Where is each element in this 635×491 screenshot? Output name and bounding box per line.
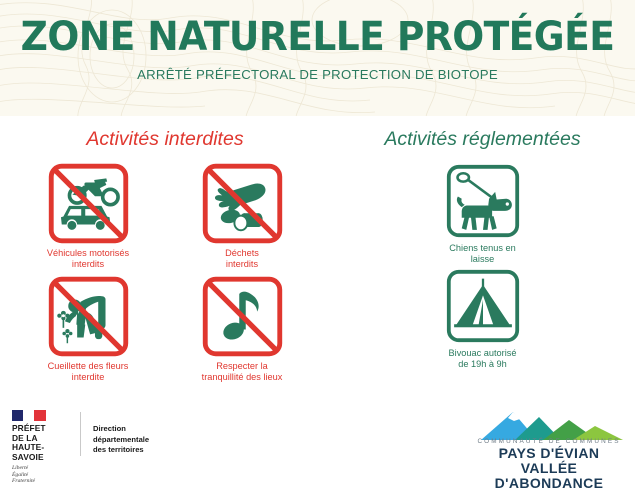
pictogram-caption: Bivouac autorisé de 19h à 9h [408, 348, 558, 371]
pictogram-caption: Respecter la tranquillité des lieux [174, 361, 310, 384]
tent-icon [445, 268, 521, 344]
prefecture-name-line-2: DE LA HAUTE- [12, 434, 70, 453]
caption-line-2: laisse [471, 254, 495, 264]
music-note-icon [202, 276, 283, 357]
caption-line-2: tranquillité des lieux [202, 372, 283, 382]
flag-blue-band [12, 410, 23, 421]
community-label: COMMUNAUTÉ DE COMMUNES [473, 438, 625, 445]
prefecture-name-line-3: SAVOIE [12, 453, 70, 463]
community-name-line-2: VALLÉE D'ABONDANCE [473, 461, 625, 491]
pictogram-dog-on-leash: Chiens tenus en laisse [408, 163, 558, 266]
header-text-block: ZONE NATURELLE PROTÉGÉE ARRÊTÉ PRÉFECTOR… [0, 0, 635, 82]
flag-red-band [34, 410, 46, 421]
forbidden-pictogram-grid: Véhicules motorisés interdits [0, 163, 330, 389]
sign-body: Activités interdites [0, 116, 635, 398]
pictogram-flower-picking: Cueillette des fleurs interdite [20, 276, 156, 384]
caption-line-1: Respecter la [216, 361, 268, 371]
caption-line-1: Déchets [225, 248, 259, 258]
direction-line-3: des territoires [93, 445, 149, 456]
protected-nature-zone-sign: ZONE NATURELLE PROTÉGÉE ARRÊTÉ PRÉFECTOR… [0, 0, 635, 476]
flag-white-band [23, 410, 34, 421]
motto-line-3: Fraternité [12, 478, 70, 484]
caption-line-2: interdits [72, 259, 104, 269]
pictogram-caption: Cueillette des fleurs interdite [20, 361, 156, 384]
pictogram-caption: Déchets interdits [174, 248, 310, 271]
pictogram-litter: Déchets interdits [174, 163, 310, 271]
sign-footer: PRÉFET DE LA HAUTE- SAVOIE Liberté Égali… [0, 398, 635, 476]
community-name-line-1: PAYS D'ÉVIAN [473, 446, 625, 461]
litter-icon [202, 163, 283, 244]
caption-line-2: interdits [226, 259, 258, 269]
page-subtitle: ARRÊTÉ PRÉFECTORAL DE PROTECTION DE BIOT… [0, 67, 635, 82]
dog-on-leash-icon [445, 163, 521, 239]
footer-divider [80, 412, 81, 456]
pictogram-columns: Activités interdites [0, 116, 635, 389]
regulated-activities-column: Activités réglementées [330, 128, 635, 389]
page-title: ZONE NATURELLE PROTÉGÉE [19, 17, 616, 57]
direction-line-1: Direction [93, 424, 149, 435]
caption-line-1: Chiens tenus en [449, 243, 515, 253]
mountains-icon [473, 406, 625, 442]
prefecture-block: PRÉFET DE LA HAUTE- SAVOIE Liberté Égali… [12, 410, 149, 485]
prefecture-logo: PRÉFET DE LA HAUTE- SAVOIE Liberté Égali… [12, 410, 70, 485]
pictogram-caption: Véhicules motorisés interdits [20, 248, 156, 271]
regulated-heading: Activités réglementées [330, 128, 635, 151]
direction-block: Direction départementale des territoires [93, 410, 149, 456]
forbidden-heading: Activités interdites [0, 128, 330, 151]
pictogram-noise: Respecter la tranquillité des lieux [174, 276, 310, 384]
sign-header: ZONE NATURELLE PROTÉGÉE ARRÊTÉ PRÉFECTOR… [0, 0, 635, 116]
caption-line-2: de 19h à 9h [458, 359, 507, 369]
caption-line-1: Véhicules motorisés [47, 248, 129, 258]
french-flag-icon [12, 410, 46, 421]
forbidden-activities-column: Activités interdites [0, 128, 330, 389]
direction-line-2: départementale [93, 435, 149, 446]
prefecture-name: PRÉFET DE LA HAUTE- SAVOIE [12, 424, 70, 462]
flower-picking-icon [48, 276, 129, 357]
caption-line-1: Cueillette des fleurs [48, 361, 129, 371]
community-block: COMMUNAUTÉ DE COMMUNES PAYS D'ÉVIAN VALL… [473, 406, 625, 491]
republic-motto: Liberté Égalité Fraternité [12, 465, 70, 484]
caption-line-1: Bivouac autorisé [449, 348, 517, 358]
regulated-pictogram-grid: Chiens tenus en laisse [330, 163, 635, 373]
pictogram-bivouac: Bivouac autorisé de 19h à 9h [408, 268, 558, 371]
pictogram-motor-vehicles: Véhicules motorisés interdits [20, 163, 156, 271]
pictogram-caption: Chiens tenus en laisse [408, 243, 558, 266]
motor-vehicles-icon [48, 163, 129, 244]
caption-line-2: interdite [72, 372, 105, 382]
